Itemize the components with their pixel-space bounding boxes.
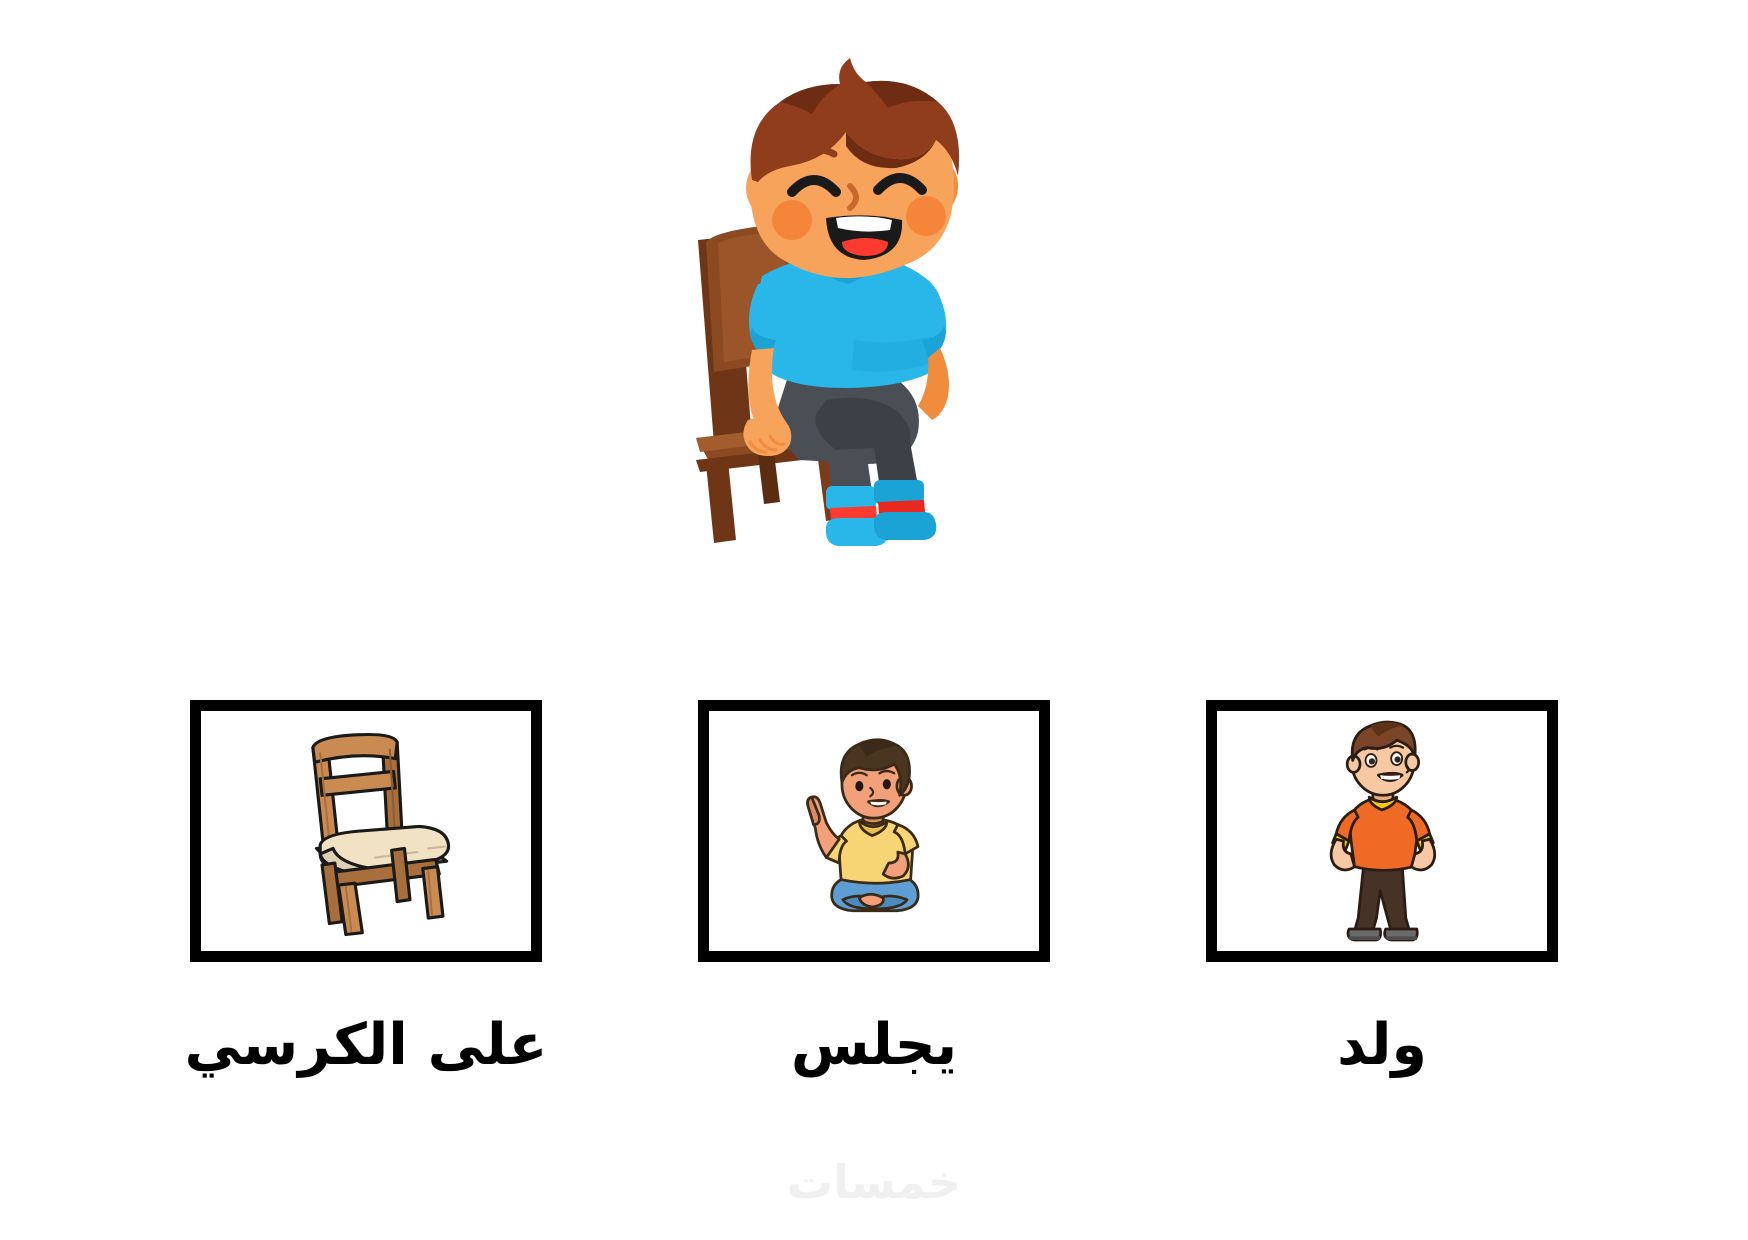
boy-sitting-on-chair-illustration	[640, 40, 1060, 560]
flashcard-boy[interactable]: ولد	[1182, 700, 1582, 1077]
boy-standing-hands-on-hips-illustration	[1206, 700, 1558, 962]
flashcard-sits[interactable]: يجلس	[674, 700, 1074, 1077]
head-shape	[746, 58, 959, 278]
flashcard-chair[interactable]: على الكرسي	[166, 700, 566, 1077]
flashcard-label-on-the-chair: على الكرسي	[185, 1014, 548, 1077]
boy-sitting-cross-legged-illustration	[698, 700, 1050, 962]
wooden-chair-illustration	[190, 700, 542, 962]
site-watermark: خمسات	[0, 1155, 1748, 1209]
flashcard-label-boy: ولد	[1337, 1014, 1427, 1077]
flashcard-page: ولد	[0, 0, 1748, 1240]
flashcard-label-sits: يجلس	[791, 1014, 957, 1077]
flashcard-row: ولد	[0, 700, 1748, 1180]
